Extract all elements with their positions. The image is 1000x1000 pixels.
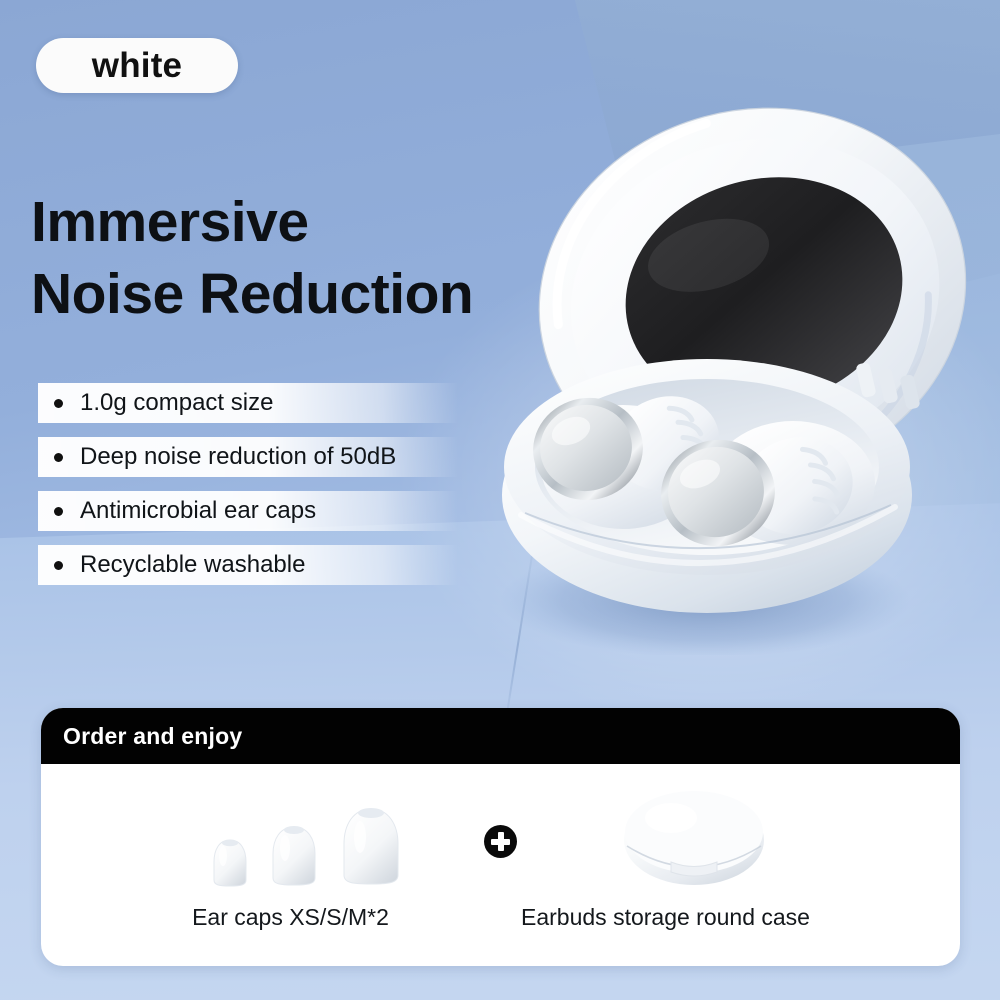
round-storage-case-icon — [619, 788, 769, 888]
feature-item: 1.0g compact size — [38, 383, 598, 423]
ear-tip-xs-icon — [210, 836, 250, 888]
storage-case-caption: Earbuds storage round case — [456, 906, 876, 929]
feature-label: Deep noise reduction of 50dB — [80, 445, 396, 469]
color-variant-badge[interactable]: white — [36, 38, 238, 93]
ear-tips-icon — [182, 804, 432, 888]
order-card-title: Order and enjoy — [63, 725, 242, 748]
order-card-header: Order and enjoy — [41, 708, 960, 764]
feature-item: Deep noise reduction of 50dB — [38, 437, 598, 477]
feature-item: Antimicrobial ear caps — [38, 491, 598, 531]
bullet-dot-icon — [54, 561, 63, 570]
bullet-dot-icon — [54, 453, 63, 462]
ear-tip-s-icon — [268, 822, 320, 888]
product-marketing-image: white Immersive Noise Reduction 1.0g com… — [0, 0, 1000, 1000]
kit-contents-row — [41, 778, 960, 888]
ear-tip-m-icon — [338, 804, 404, 888]
order-card-body: Ear caps XS/S/M*2 Earbuds storage round … — [41, 764, 960, 966]
kit-captions-row: Ear caps XS/S/M*2 Earbuds storage round … — [41, 906, 960, 929]
feature-label: 1.0g compact size — [80, 391, 273, 415]
headline-line-2: Noise Reduction — [31, 258, 651, 330]
headline: Immersive Noise Reduction — [31, 186, 651, 330]
feature-label: Antimicrobial ear caps — [80, 499, 316, 523]
charging-case-icon — [569, 788, 819, 888]
feature-item: Recyclable washable — [38, 545, 598, 585]
bullet-dot-icon — [54, 507, 63, 516]
feature-list: 1.0g compact size Deep noise reduction o… — [38, 383, 598, 599]
order-card: Order and enjoy — [41, 708, 960, 966]
headline-line-1: Immersive — [31, 186, 651, 258]
ear-caps-caption: Ear caps XS/S/M*2 — [126, 906, 456, 929]
color-variant-label: white — [92, 48, 182, 83]
plus-icon — [484, 825, 517, 858]
feature-label: Recyclable washable — [80, 553, 305, 577]
bullet-dot-icon — [54, 399, 63, 408]
